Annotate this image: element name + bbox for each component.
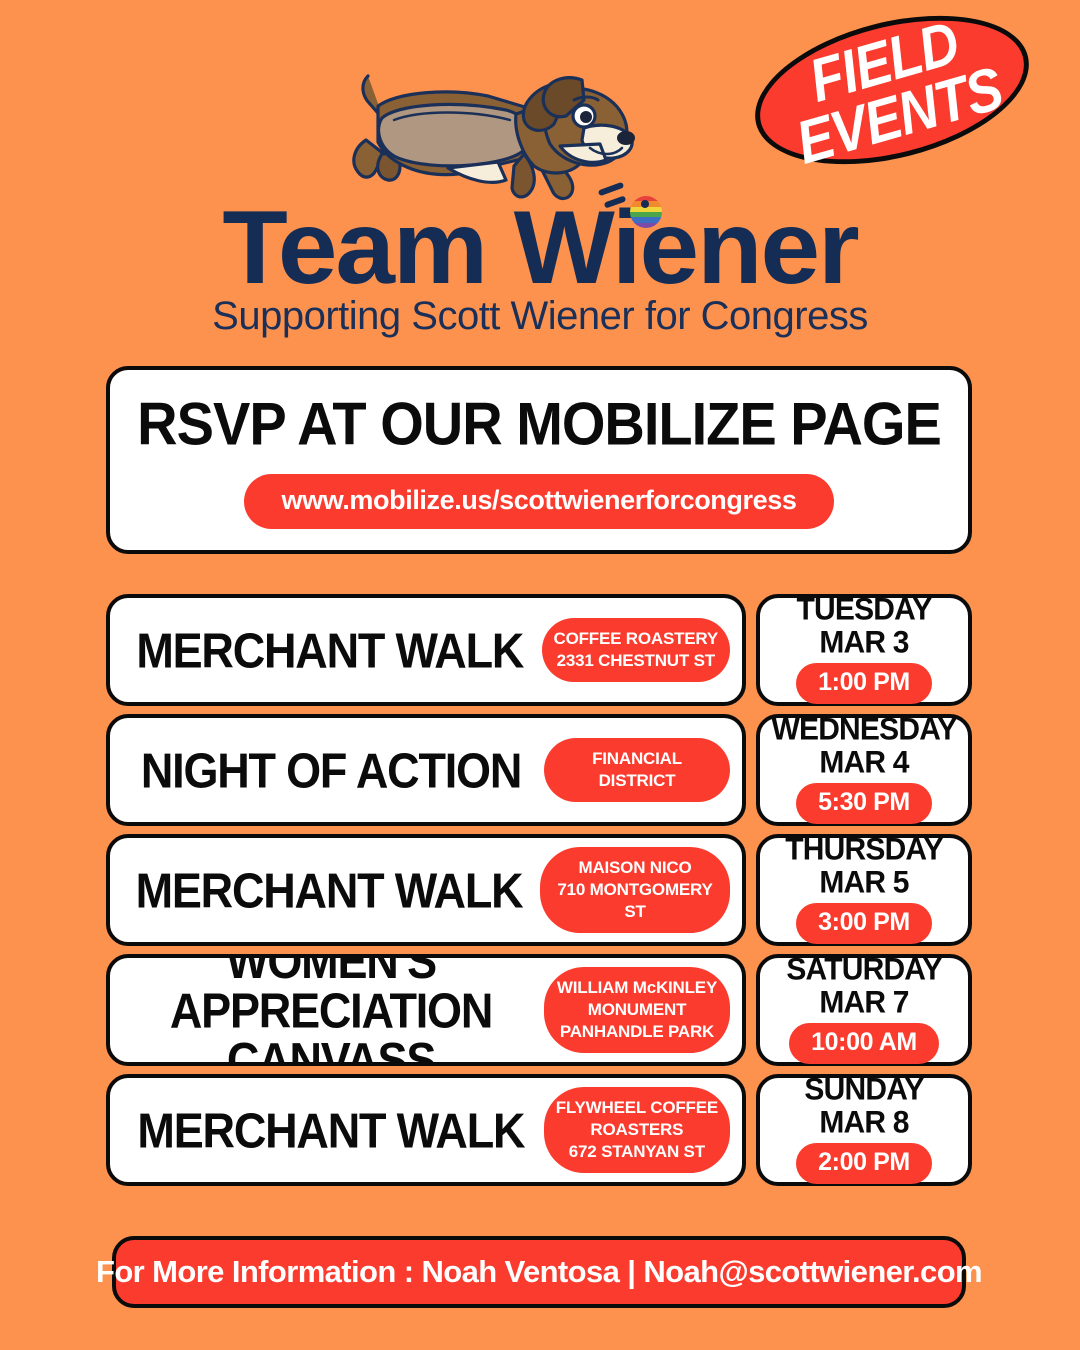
event-row[interactable]: MERCHANT WALK FLYWHEEL COFFEE ROASTERS 6…: [106, 1074, 972, 1186]
event-date: MAR 7: [819, 985, 908, 1020]
event-title: MERCHANT WALK: [128, 625, 532, 675]
event-weekday: THURSDAY: [785, 833, 943, 866]
logo-wordmark: Team Wiener: [0, 196, 1080, 300]
event-date: MAR 5: [819, 865, 908, 900]
event-date: MAR 3: [819, 625, 908, 660]
event-date: MAR 8: [819, 1105, 908, 1140]
event-title: NIGHT OF ACTION: [128, 745, 534, 795]
event-date-card[interactable]: WEDNESDAY MAR 4 5:30 PM: [756, 714, 972, 826]
rsvp-title: RSVP AT OUR MOBILIZE PAGE: [137, 388, 941, 458]
event-info-card[interactable]: WOMEN'S APPRECIATION CANVASS WILLIAM McK…: [106, 954, 746, 1066]
event-row[interactable]: NIGHT OF ACTION FINANCIAL DISTRICT WEDNE…: [106, 714, 972, 826]
event-title: MERCHANT WALK: [128, 1105, 534, 1155]
event-title: WOMEN'S APPRECIATION CANVASS: [128, 954, 534, 1066]
event-time-pill: 1:00 PM: [796, 663, 932, 704]
logo-tagline: Supporting Scott Wiener for Congress: [0, 296, 1080, 336]
event-weekday: SATURDAY: [786, 953, 941, 986]
event-info-card[interactable]: MERCHANT WALK MAISON NICO 710 MONTGOMERY…: [106, 834, 746, 946]
mobilize-url-button[interactable]: www.mobilize.us/scottwienerforcongress: [244, 474, 835, 529]
event-location-pill: FLYWHEEL COFFEE ROASTERS 672 STANYAN ST: [544, 1087, 730, 1172]
event-location-pill: WILLIAM McKINLEY MONUMENT PANHANDLE PARK: [544, 967, 730, 1052]
event-time-pill: 2:00 PM: [796, 1143, 932, 1184]
event-title: MERCHANT WALK: [128, 865, 530, 915]
rainbow-ball-dot-icon: [641, 200, 649, 208]
event-weekday: WEDNESDAY: [771, 713, 956, 746]
rainbow-ball-icon: [630, 196, 662, 228]
event-date-card[interactable]: TUESDAY MAR 3 1:00 PM: [756, 594, 972, 706]
event-date: MAR 4: [819, 745, 908, 780]
event-time-pill: 10:00 AM: [789, 1023, 939, 1064]
event-info-card[interactable]: MERCHANT WALK FLYWHEEL COFFEE ROASTERS 6…: [106, 1074, 746, 1186]
event-weekday: SUNDAY: [804, 1073, 923, 1106]
event-time-pill: 3:00 PM: [796, 903, 932, 944]
event-info-card[interactable]: NIGHT OF ACTION FINANCIAL DISTRICT: [106, 714, 746, 826]
contact-footer[interactable]: For More Information : Noah Ventosa | No…: [112, 1236, 966, 1308]
event-row[interactable]: MERCHANT WALK MAISON NICO 710 MONTGOMERY…: [106, 834, 972, 946]
event-date-card[interactable]: SATURDAY MAR 7 10:00 AM: [756, 954, 972, 1066]
event-weekday: TUESDAY: [797, 593, 932, 626]
event-location-pill: MAISON NICO 710 MONTGOMERY ST: [540, 847, 730, 932]
event-row[interactable]: WOMEN'S APPRECIATION CANVASS WILLIAM McK…: [106, 954, 972, 1066]
event-row[interactable]: MERCHANT WALK COFFEE ROASTERY 2331 CHEST…: [106, 594, 972, 706]
event-location-pill: FINANCIAL DISTRICT: [544, 738, 730, 802]
event-location-pill: COFFEE ROASTERY 2331 CHESTNUT ST: [542, 618, 731, 682]
contact-footer-text: For More Information : Noah Ventosa | No…: [96, 1254, 982, 1290]
event-info-card[interactable]: MERCHANT WALK COFFEE ROASTERY 2331 CHEST…: [106, 594, 746, 706]
events-list: MERCHANT WALK COFFEE ROASTERY 2331 CHEST…: [106, 594, 972, 1186]
rsvp-card: RSVP AT OUR MOBILIZE PAGE www.mobilize.u…: [106, 366, 972, 554]
event-date-card[interactable]: SUNDAY MAR 8 2:00 PM: [756, 1074, 972, 1186]
event-time-pill: 5:30 PM: [796, 783, 932, 824]
event-date-card[interactable]: THURSDAY MAR 5 3:00 PM: [756, 834, 972, 946]
